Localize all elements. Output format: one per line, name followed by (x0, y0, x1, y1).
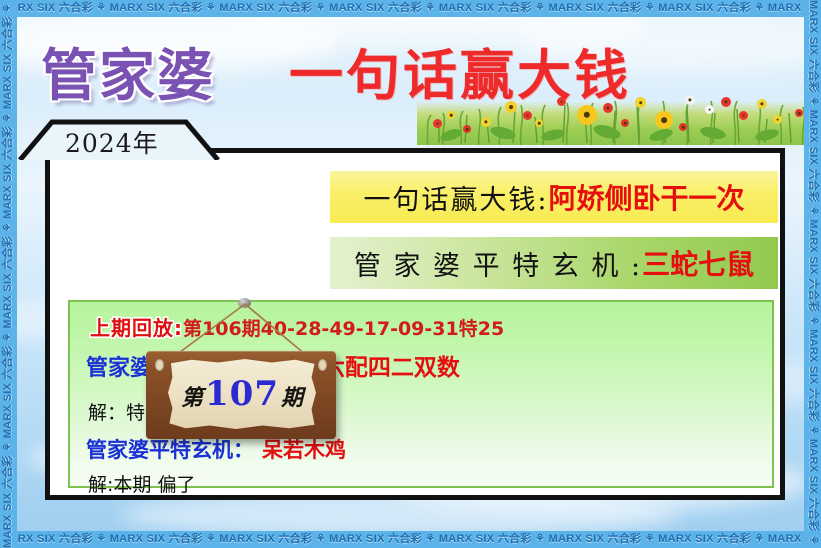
board-hole-right (318, 359, 327, 371)
row-answer-two: 解:本期 偏了 (88, 470, 195, 497)
border-top-text: MARX SIX 六合彩 ⚘ MARX SIX 六合彩 ⚘ MARX SIX 六… (0, 0, 821, 17)
banner-xuanji: 管 家 婆 平 特 玄 机 : 三蛇七鼠 (330, 237, 778, 289)
banner-xuanji-value: 三蛇七鼠 (642, 243, 754, 283)
border-right-text: MARX SIX 六合彩 ⚘ MARX SIX 六合彩 ⚘ MARX SIX 六… (804, 0, 821, 548)
poster-root: 管家婆 一句话赢大钱 (0, 0, 821, 548)
border-left: MARX SIX 六合彩 ⚘ MARX SIX 六合彩 ⚘ MARX SIX 六… (0, 0, 17, 548)
border-bottom-text: MARX SIX 六合彩 ⚘ MARX SIX 六合彩 ⚘ MARX SIX 六… (0, 531, 821, 548)
year-label: 2024年 (65, 124, 159, 160)
banner-yiju-label: 一句话赢大钱: (363, 178, 548, 217)
banner-yiju-value: 阿娇侧卧干一次 (549, 177, 745, 217)
issue-number: 第107期 (181, 377, 303, 411)
issue-value: 107 (205, 374, 279, 414)
issue-prefix: 第 (181, 385, 203, 411)
board-hole-left (155, 359, 164, 371)
border-right: MARX SIX 六合彩 ⚘ MARX SIX 六合彩 ⚘ MARX SIX 六… (804, 0, 821, 548)
wooden-board: 第107期 (146, 351, 336, 439)
sign-paper: 第107期 (168, 359, 316, 429)
main-card: 一句话赢大钱: 阿娇侧卧干一次 管 家 婆 平 特 玄 机 : 三蛇七鼠 第10… (45, 148, 785, 500)
flower-meadow-decoration (417, 75, 821, 145)
banner-xuanji-label: 管 家 婆 平 特 玄 机 : (354, 244, 642, 283)
border-bottom: MARX SIX 六合彩 ⚘ MARX SIX 六合彩 ⚘ MARX SIX 六… (0, 531, 821, 548)
hanging-sign: 第107期 (110, 293, 370, 448)
issue-suffix: 期 (281, 385, 303, 411)
border-top: MARX SIX 六合彩 ⚘ MARX SIX 六合彩 ⚘ MARX SIX 六… (0, 0, 821, 17)
border-left-text: MARX SIX 六合彩 ⚘ MARX SIX 六合彩 ⚘ MARX SIX 六… (0, 0, 17, 548)
banner-yiju: 一句话赢大钱: 阿娇侧卧干一次 (330, 171, 778, 223)
brand-logo: 管家婆 (41, 31, 215, 112)
